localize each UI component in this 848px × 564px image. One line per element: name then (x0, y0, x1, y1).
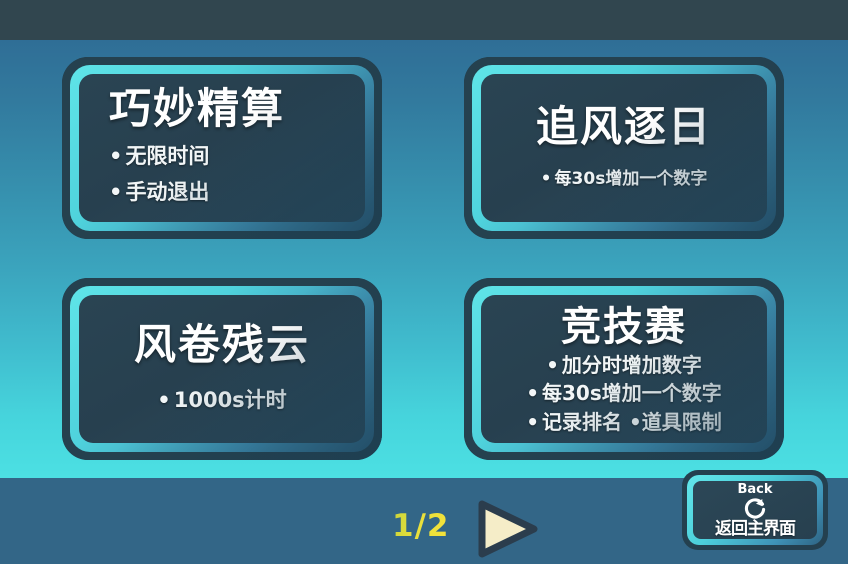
mode-card-bullet-list: 无限时间 手动退出 (109, 138, 365, 210)
card-panel: 巧妙精算 无限时间 手动退出 (79, 74, 365, 222)
mode-card-title: 风卷残云 (134, 322, 310, 367)
mode-card-bullet: 每30s增加一个数字 (481, 167, 767, 193)
mode-card-bullet: 无限时间 (109, 138, 365, 174)
triangle-right-icon (470, 498, 542, 560)
mode-card-bullet: 每30s增加一个数字 (481, 379, 767, 407)
back-to-main-menu-button[interactable]: Back 返回主界面 (682, 470, 828, 550)
mode-card-fengjuancanyun[interactable]: 风卷残云 1000s计时 (62, 278, 382, 460)
mode-card-bullet-list: 加分时增加数字 每30s增加一个数字 记录排名 •道具限制 (481, 351, 767, 436)
next-page-button[interactable] (470, 498, 542, 560)
card-panel: 追风逐日 每30s增加一个数字 (481, 74, 767, 222)
mode-card-jingjisai[interactable]: 竞技赛 加分时增加数字 每30s增加一个数字 记录排名 •道具限制 (464, 278, 784, 460)
mode-card-bullet: 1000s计时 (79, 385, 365, 417)
mode-card-qiaomiaojingsuan[interactable]: 巧妙精算 无限时间 手动退出 (62, 57, 382, 239)
circular-arrow-icon (742, 497, 768, 521)
mode-card-bullet-list: 1000s计时 (79, 385, 365, 417)
letterbox-top-bar (0, 0, 848, 40)
back-button-label-en: Back (737, 483, 772, 496)
mode-card-zhuifengzhuri[interactable]: 追风逐日 每30s增加一个数字 (464, 57, 784, 239)
mode-card-title: 追风逐日 (536, 104, 712, 149)
mode-card-title: 巧妙精算 (109, 86, 285, 131)
back-button-label-cn: 返回主界面 (715, 521, 795, 538)
mode-card-title: 竞技赛 (561, 306, 687, 349)
mode-card-bullet-list: 每30s增加一个数字 (481, 167, 767, 193)
mode-card-bullet: 加分时增加数字 (481, 351, 767, 379)
game-mode-select-screen: 巧妙精算 无限时间 手动退出 追风逐日 每30s增加一个数字 风卷残云 1000… (0, 0, 848, 564)
back-button-panel: Back 返回主界面 (693, 481, 817, 539)
mode-card-bullet: 记录排名 •道具限制 (481, 408, 767, 436)
page-indicator: 1/2 (392, 508, 449, 544)
card-panel: 风卷残云 1000s计时 (79, 295, 365, 443)
mode-card-bullet: 手动退出 (109, 174, 365, 210)
card-panel: 竞技赛 加分时增加数字 每30s增加一个数字 记录排名 •道具限制 (481, 295, 767, 443)
